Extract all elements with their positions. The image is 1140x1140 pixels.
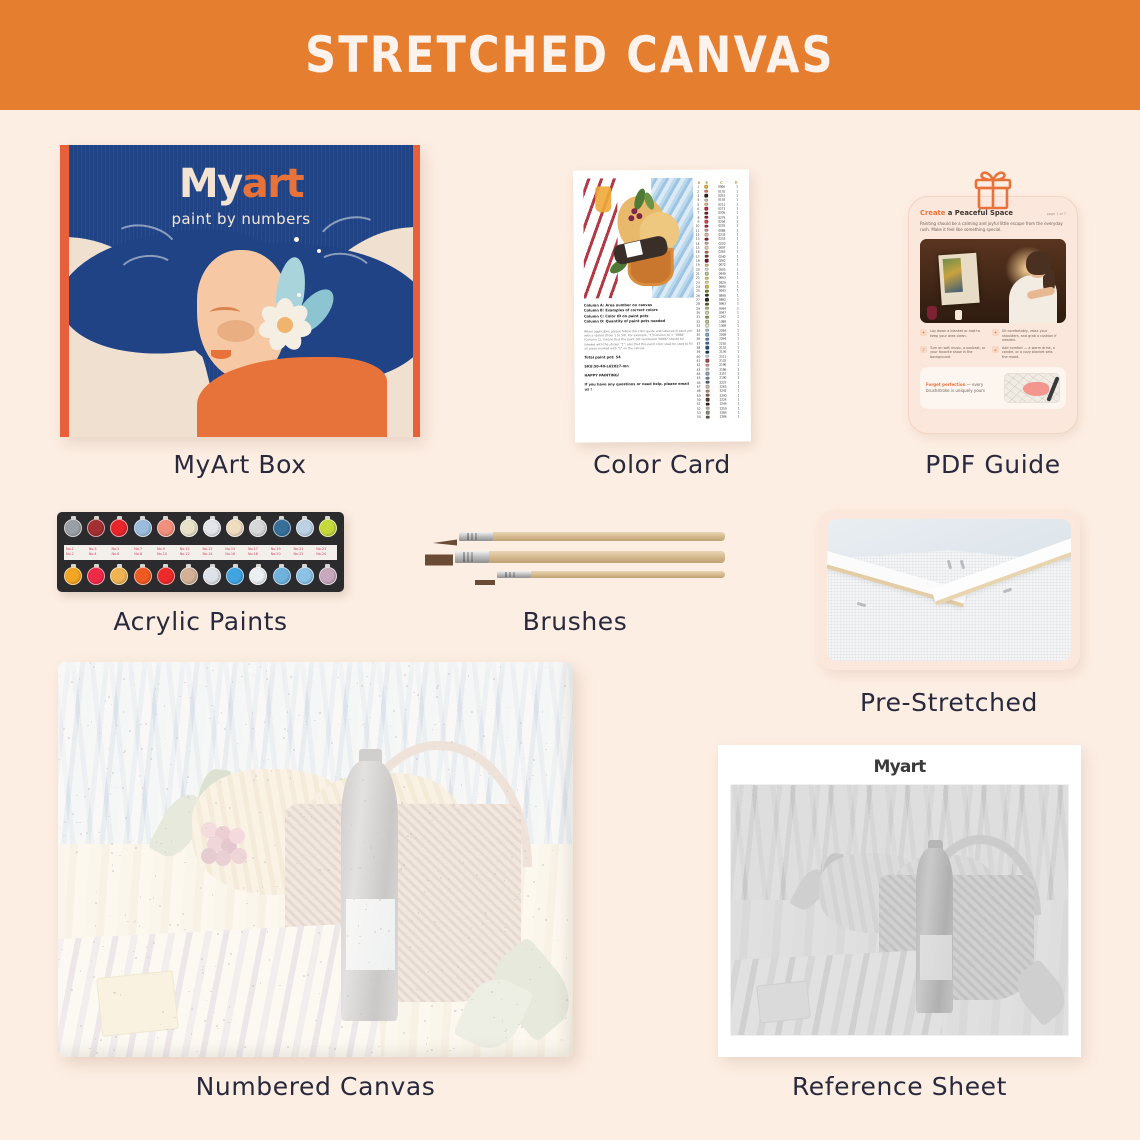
swatch-dot bbox=[705, 281, 708, 284]
swatch-dot bbox=[705, 185, 708, 188]
caption-acrylic-paints: Acrylic Paints bbox=[57, 607, 344, 636]
swatch-color-cell bbox=[704, 242, 709, 245]
swatch-dot bbox=[706, 402, 709, 405]
pdf-intro-text: Painting should be a calming and joyful … bbox=[920, 221, 1066, 233]
swatch-color-cell bbox=[705, 402, 710, 405]
pot-cap bbox=[110, 567, 128, 585]
pot-cap bbox=[296, 567, 314, 585]
cheek-blush bbox=[217, 320, 255, 342]
paint-pot bbox=[86, 565, 106, 587]
swatch-dot bbox=[705, 311, 708, 314]
caption-brushes: Brushes bbox=[425, 607, 725, 636]
caption-pdf-guide: PDF Guide bbox=[833, 450, 1140, 479]
drink-icon: ☕ bbox=[992, 346, 999, 353]
swatch-color-cell bbox=[704, 246, 709, 249]
swatch-color-cell bbox=[704, 189, 709, 192]
pot-cap bbox=[296, 519, 314, 537]
paint-number-label: No.15No.16 bbox=[223, 545, 246, 560]
swatch-color-cell bbox=[705, 285, 710, 288]
swatch-dot bbox=[706, 394, 709, 397]
stretched-canvas-photo bbox=[827, 519, 1071, 661]
swatch-dot bbox=[706, 328, 709, 331]
swatch-dot bbox=[706, 346, 709, 349]
swatch-color-cell bbox=[705, 342, 710, 345]
swatch-color-cell bbox=[705, 328, 710, 331]
caption-myart-box: MyArt Box bbox=[60, 450, 420, 479]
paint-number-label: No.9No.10 bbox=[155, 545, 178, 560]
paint-pot-row-top bbox=[61, 517, 340, 539]
swatch-color-cell bbox=[704, 194, 709, 197]
paint-pot bbox=[109, 517, 129, 539]
paint-number-label: No.7No.8 bbox=[132, 545, 155, 560]
swatch-color-cell bbox=[705, 294, 710, 297]
swatch-color-cell bbox=[704, 203, 709, 206]
pdf-footer-thumbnail bbox=[1004, 373, 1060, 403]
sku-code: SKU:50-40-LU2027-mn bbox=[584, 363, 694, 369]
sparkle-dot bbox=[317, 249, 321, 253]
pot-cap bbox=[203, 519, 221, 537]
broom-icon: ✦ bbox=[920, 329, 927, 336]
caption-color-card: Color Card bbox=[500, 450, 824, 479]
swatch-color-cell bbox=[705, 302, 710, 305]
box-logo: Myart paint by numbers bbox=[69, 161, 413, 228]
pdf-footer-box: Forget perfection — every brushstroke is… bbox=[920, 367, 1066, 409]
infographic-page: STRETCHED CANVAS Myart paint by numbers bbox=[0, 0, 1140, 1140]
pdf-tip-text: Turn on soft music, a podcast, or your f… bbox=[930, 346, 986, 360]
swatch-color-cell bbox=[705, 350, 710, 353]
swatch-dot bbox=[705, 285, 708, 288]
pot-cap bbox=[319, 519, 337, 537]
swatch-color-cell bbox=[705, 394, 710, 397]
swatch-dot bbox=[705, 194, 708, 197]
pdf-tip-item: ✦ Lay down a blanket or mat to keep your… bbox=[920, 329, 986, 343]
pre-stretched-image bbox=[818, 510, 1080, 670]
swatch-color-cell bbox=[705, 398, 710, 401]
pot-cap bbox=[134, 519, 152, 537]
pot-cap bbox=[87, 567, 105, 585]
logo-art-text: art bbox=[242, 161, 303, 207]
flat-wide-brush bbox=[425, 551, 725, 563]
swatch-dot bbox=[706, 368, 709, 371]
swatch-color-cell bbox=[704, 224, 709, 227]
paint-number-label: No.23No.24 bbox=[314, 545, 337, 560]
swatch-color-cell bbox=[705, 311, 710, 314]
swatch-dot bbox=[705, 216, 708, 219]
paint-pot bbox=[156, 517, 176, 539]
swatch-quantity: 1 bbox=[736, 415, 742, 419]
swatch-dot bbox=[705, 233, 708, 236]
paint-pot bbox=[248, 517, 268, 539]
swatch-dot bbox=[705, 294, 708, 297]
swatch-dot bbox=[705, 263, 708, 266]
swatch-dot bbox=[705, 268, 708, 271]
pdf-tip-text: Sit comfortably, relax your shoulders, a… bbox=[1002, 329, 1058, 343]
swatch-dot bbox=[705, 189, 708, 192]
swatch-color-cell bbox=[705, 307, 710, 310]
swatch-dot bbox=[706, 411, 709, 414]
paint-pot bbox=[179, 517, 199, 539]
swatch-dot bbox=[706, 398, 709, 401]
swatch-color-id: 2284 bbox=[715, 415, 731, 419]
pot-cap bbox=[226, 519, 244, 537]
logo-my-text: My bbox=[179, 161, 242, 207]
paint-pot bbox=[179, 565, 199, 587]
swatch-color-cell bbox=[705, 320, 710, 323]
paint-pot bbox=[272, 517, 292, 539]
swatch-color-cell bbox=[704, 207, 709, 210]
swatch-color-cell bbox=[704, 250, 709, 253]
swatch-color-cell bbox=[705, 337, 710, 340]
swatch-dot bbox=[705, 255, 708, 258]
swatch-color-cell bbox=[704, 281, 709, 284]
swatch-dot bbox=[706, 337, 709, 340]
pdf-tip-item: ☕ Add comfort — a warm drink, a candle, … bbox=[992, 346, 1058, 360]
swatch-dot bbox=[705, 237, 708, 240]
brush-tip bbox=[475, 571, 497, 578]
swatch-dot bbox=[705, 307, 708, 310]
swatch-dot bbox=[705, 224, 708, 227]
acrylic-paints-image: No.1No.2No.3No.4No.5No.6No.7No.8No.9No.1… bbox=[57, 512, 344, 592]
round-pointed-brush bbox=[433, 532, 725, 541]
caption-reference-sheet: Reference Sheet bbox=[718, 1072, 1081, 1101]
happy-painting-text: HAPPY PAINTING! bbox=[584, 372, 694, 378]
swatch-row: 5422841 bbox=[694, 415, 742, 420]
swatch-color-cell bbox=[704, 276, 709, 279]
pot-cap bbox=[273, 519, 291, 537]
eyebrow bbox=[210, 307, 240, 318]
paint-pot bbox=[109, 565, 129, 587]
pdf-footer-accent: Forget perfection bbox=[926, 382, 965, 387]
brush-ferrule bbox=[455, 551, 489, 563]
swatch-color-cell bbox=[704, 237, 709, 240]
paint-number-label: No.21No.22 bbox=[292, 545, 315, 560]
swatch-dot bbox=[705, 242, 708, 245]
swatch-color-cell bbox=[705, 359, 710, 362]
chair-icon: ✦ bbox=[992, 329, 999, 336]
brush-tip bbox=[425, 551, 455, 563]
swatch-dot bbox=[706, 342, 709, 345]
swatch-color-cell bbox=[705, 368, 710, 371]
box-edge-left bbox=[60, 145, 69, 437]
swatch-color-cell bbox=[705, 372, 710, 375]
paint-pot bbox=[133, 565, 153, 587]
swatch-dot bbox=[705, 250, 708, 253]
swatch-color-cell bbox=[704, 255, 709, 258]
pot-cap bbox=[319, 567, 337, 585]
paint-pot bbox=[63, 517, 83, 539]
pdf-guide-image: Create a Peaceful Space page 1 of 7 Pain… bbox=[908, 172, 1078, 434]
swatch-color-cell bbox=[704, 211, 709, 214]
swatch-dot bbox=[706, 333, 709, 336]
swatch-dot bbox=[705, 211, 708, 214]
paint-pot bbox=[202, 565, 222, 587]
swatch-color-cell bbox=[704, 272, 709, 275]
swatch-color-cell bbox=[705, 381, 710, 384]
pot-cap bbox=[249, 519, 267, 537]
swatch-color-cell bbox=[704, 233, 709, 236]
swatch-dot bbox=[706, 350, 709, 353]
canvas-scene bbox=[58, 662, 573, 1057]
swatch-color-cell bbox=[705, 324, 710, 327]
pot-cap bbox=[180, 519, 198, 537]
color-card-artwork bbox=[583, 178, 694, 299]
swatch-dot bbox=[706, 363, 709, 366]
pot-cap bbox=[64, 567, 82, 585]
swatch-area-number: 54 bbox=[694, 415, 701, 419]
swatch-dot bbox=[706, 320, 709, 323]
flower-icon bbox=[255, 295, 315, 355]
paint-number-label: No.5No.6 bbox=[110, 545, 133, 560]
pdf-tip-text: Add comfort — a warm drink, a candle, or… bbox=[1002, 346, 1058, 360]
swatch-dot bbox=[706, 381, 709, 384]
pdf-tip-item: ♪ Turn on soft music, a podcast, or your… bbox=[920, 346, 986, 360]
swatch-dot bbox=[706, 372, 709, 375]
swatch-color-cell bbox=[705, 355, 710, 358]
swatch-dot bbox=[705, 302, 708, 305]
swatch-dot bbox=[705, 276, 708, 279]
swatch-color-cell bbox=[704, 220, 709, 223]
swatch-color-cell bbox=[705, 346, 710, 349]
swatch-color-cell bbox=[705, 415, 710, 418]
swatch-color-cell bbox=[705, 363, 710, 366]
swatch-color-cell bbox=[704, 259, 709, 262]
swatch-dot bbox=[706, 389, 709, 392]
swatch-color-cell bbox=[705, 298, 710, 301]
swatch-dot bbox=[705, 207, 708, 210]
swatch-color-cell bbox=[705, 289, 710, 292]
paint-pot bbox=[156, 565, 176, 587]
swatch-dot bbox=[706, 376, 709, 379]
pot-cap bbox=[157, 519, 175, 537]
reference-sheet-artwork bbox=[730, 784, 1069, 1036]
swatch-dot bbox=[706, 315, 709, 318]
brush-tip bbox=[433, 532, 459, 541]
reference-sheet-image: Myart bbox=[718, 745, 1081, 1057]
sparkle-dot bbox=[294, 237, 299, 242]
pdf-page-number: page 1 of 7 bbox=[1047, 212, 1066, 216]
pot-cap bbox=[273, 567, 291, 585]
paint-pot bbox=[202, 517, 222, 539]
pdf-tips-list: ✦ Lay down a blanket or mat to keep your… bbox=[920, 329, 1066, 360]
swatch-dot bbox=[706, 385, 709, 388]
pdf-tip-item: ✦ Sit comfortably, relax your shoulders,… bbox=[992, 329, 1058, 343]
swatch-dot bbox=[706, 359, 709, 362]
thin-flat-brush bbox=[475, 571, 725, 578]
swatch-dot bbox=[706, 415, 709, 418]
brush-handle bbox=[531, 571, 725, 578]
header-banner: STRETCHED CANVAS bbox=[0, 0, 1140, 110]
color-swatch-table: A B C D 10066120170130253140193150211160… bbox=[692, 180, 742, 419]
swatch-color-cell bbox=[704, 216, 709, 219]
swatch-dot bbox=[705, 289, 708, 292]
swatch-color-cell bbox=[705, 411, 710, 414]
paint-number-strip: No.1No.2No.3No.4No.5No.6No.7No.8No.9No.1… bbox=[64, 545, 337, 560]
swatch-color-cell bbox=[704, 268, 709, 271]
swatch-dot bbox=[705, 298, 708, 301]
music-icon: ♪ bbox=[920, 346, 927, 353]
pdf-tip-text: Lay down a blanket or mat to keep your a… bbox=[930, 329, 986, 338]
swatch-dot bbox=[705, 229, 708, 232]
swatch-color-cell bbox=[705, 389, 710, 392]
swatch-color-cell bbox=[705, 315, 710, 318]
swatch-dot bbox=[705, 259, 708, 262]
pot-cap bbox=[87, 519, 105, 537]
caption-numbered-canvas: Numbered Canvas bbox=[58, 1072, 573, 1101]
swatch-color-cell bbox=[705, 333, 710, 336]
pot-cap bbox=[157, 567, 175, 585]
swatch-dot bbox=[705, 246, 708, 249]
paint-number-label: No.3No.4 bbox=[87, 545, 110, 560]
column-d-desc: Column D: Quantity of paint pots needed bbox=[584, 319, 694, 325]
pdf-footer-text: Forget perfection — every brushstroke is… bbox=[926, 382, 998, 393]
pot-cap bbox=[110, 519, 128, 537]
pdf-heading-accent: Create bbox=[920, 209, 945, 217]
paint-pot bbox=[295, 565, 315, 587]
numbered-canvas-image bbox=[58, 662, 573, 1057]
paint-pot bbox=[318, 517, 338, 539]
paint-number-label: No.11No.12 bbox=[178, 545, 201, 560]
swatch-color-cell bbox=[705, 376, 710, 379]
lips bbox=[211, 350, 231, 359]
brush-handle bbox=[493, 532, 725, 541]
swatch-color-cell bbox=[705, 385, 710, 388]
paint-pot bbox=[86, 517, 106, 539]
pot-cap bbox=[226, 567, 244, 585]
brushes-image bbox=[425, 528, 725, 588]
pot-cap bbox=[134, 567, 152, 585]
pot-cap bbox=[180, 567, 198, 585]
swatch-dot bbox=[705, 198, 708, 201]
swatch-color-cell bbox=[704, 229, 709, 232]
paint-number-label: No.19No.20 bbox=[269, 545, 292, 560]
box-front-panel: Myart paint by numbers bbox=[69, 145, 413, 437]
box-edge-right bbox=[413, 145, 420, 437]
pot-cap bbox=[249, 567, 267, 585]
color-card-instructions: Column A: Area number on canvas Column B… bbox=[584, 303, 695, 392]
color-card-image: Column A: Area number on canvas Column B… bbox=[573, 169, 751, 442]
paint-pot bbox=[225, 517, 245, 539]
reference-sheet-logo: Myart bbox=[730, 757, 1069, 777]
swatch-color-cell bbox=[704, 198, 709, 201]
paint-pot bbox=[133, 517, 153, 539]
swatch-dot bbox=[706, 324, 709, 327]
swatch-dot bbox=[705, 203, 708, 206]
swatch-dot bbox=[706, 355, 709, 358]
caption-pre-stretched: Pre-Stretched bbox=[818, 688, 1080, 717]
swatch-dot bbox=[706, 407, 709, 410]
paint-pot-row-bottom bbox=[61, 565, 340, 587]
brush-ferrule bbox=[497, 571, 531, 578]
paint-number-label: No.13No.14 bbox=[201, 545, 224, 560]
paint-pot bbox=[225, 565, 245, 587]
swatch-dot bbox=[705, 272, 708, 275]
brush-handle bbox=[489, 551, 725, 563]
paint-pot bbox=[272, 565, 292, 587]
brush-ferrule bbox=[459, 532, 493, 541]
pot-cap bbox=[203, 567, 221, 585]
page-title: STRETCHED CANVAS bbox=[305, 26, 835, 84]
paint-pot bbox=[248, 565, 268, 587]
total-paint-pot: Total paint pot: 54 bbox=[584, 354, 694, 360]
gift-icon bbox=[969, 168, 1017, 216]
swatch-color-cell bbox=[704, 185, 709, 188]
swatch-color-cell bbox=[704, 263, 709, 266]
pdf-guide-page: Create a Peaceful Space page 1 of 7 Pain… bbox=[908, 196, 1078, 434]
paint-number-label: No.1No.2 bbox=[64, 545, 87, 560]
swatch-dot bbox=[705, 220, 708, 223]
pot-cap bbox=[64, 519, 82, 537]
paint-number-label: No.17No.18 bbox=[246, 545, 269, 560]
pdf-photo bbox=[920, 239, 1066, 323]
paint-pot bbox=[63, 565, 83, 587]
color-card-paragraph: When applicable, please follow this colo… bbox=[584, 328, 694, 351]
header-col-b: B bbox=[704, 181, 709, 185]
paint-pot bbox=[295, 517, 315, 539]
paint-pot bbox=[318, 565, 338, 587]
box-tagline: paint by numbers bbox=[69, 210, 413, 228]
myart-box-image: Myart paint by numbers bbox=[60, 145, 420, 437]
contact-text: If you have any questions or need help, … bbox=[585, 381, 695, 392]
swatch-color-cell bbox=[705, 407, 710, 410]
